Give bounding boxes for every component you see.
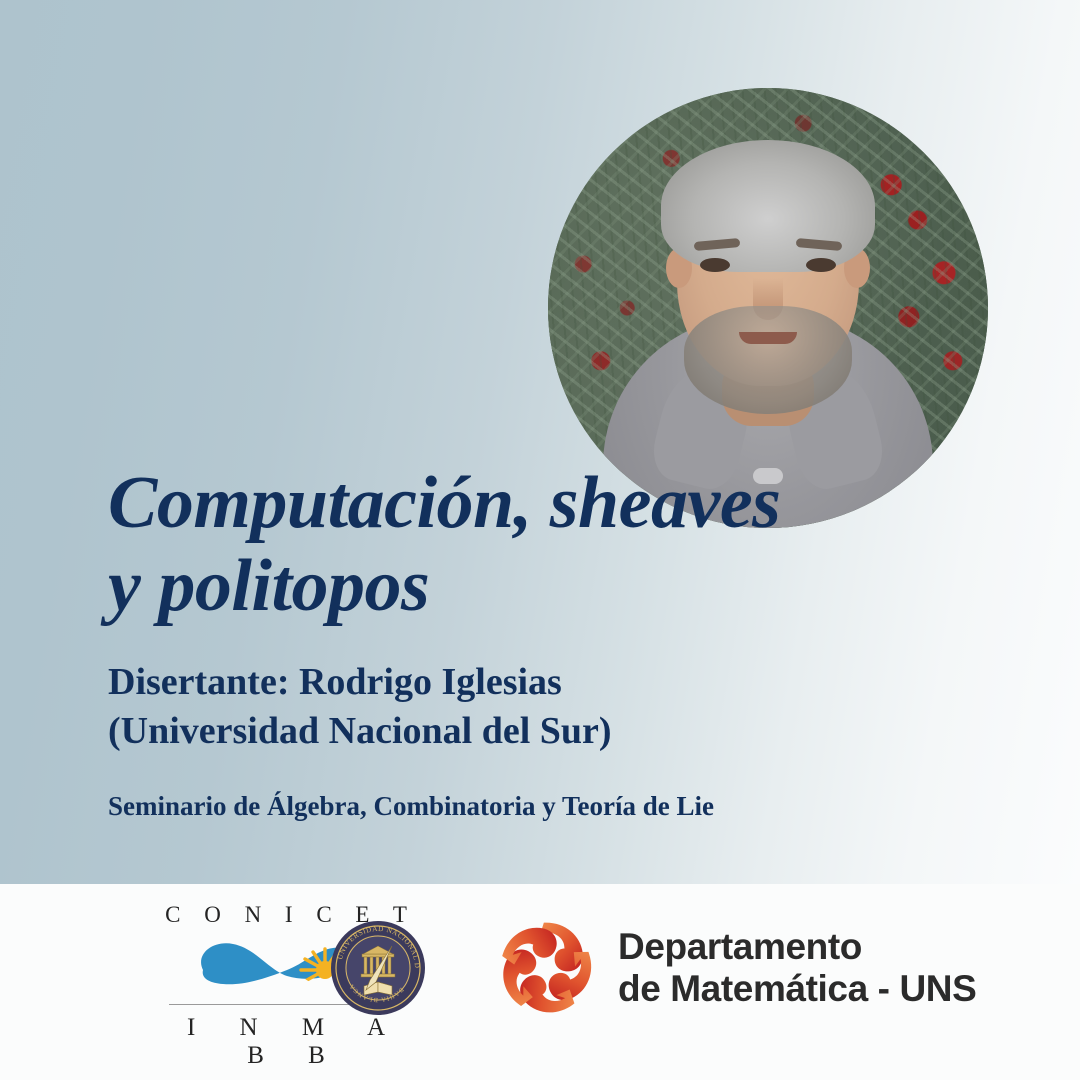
portrait-eye-right	[806, 258, 836, 272]
speaker-info: Disertante: Rodrigo Iglesias(Universidad…	[108, 658, 868, 755]
portrait-mouth	[739, 332, 797, 344]
talk-title-line-1: Computación, sheaves	[108, 462, 780, 544]
departamento-line-2: de Matemática - UNS	[618, 968, 976, 1010]
departamento-matematica-logo: Departamento de Matemática - UNS	[492, 914, 976, 1022]
speaker-name-line: Disertante: Rodrigo Iglesias	[108, 661, 562, 703]
uns-seal-icon: UNIVERSIDAD NACIONAL DEL SUR BAHIA BLANC…	[330, 920, 426, 1016]
departamento-line-1: Departamento	[618, 926, 976, 968]
departamento-pinwheel-icon	[492, 914, 600, 1022]
inmabb-wordmark: I N M A B B	[148, 1014, 424, 1070]
portrait-hair	[661, 140, 875, 272]
portrait-beard	[684, 306, 852, 414]
seminar-poster: Computación, sheavesy politopos Disertan…	[0, 0, 1080, 1080]
portrait-eye-left	[700, 258, 730, 272]
footer-logo-row: C O N I C E T	[0, 884, 1080, 1080]
talk-title: Computación, sheavesy politopos	[108, 462, 888, 628]
seminar-name: Seminario de Álgebra, Combinatoria y Teo…	[108, 789, 968, 824]
speaker-affiliation-line: (Universidad Nacional del Sur)	[108, 710, 612, 752]
departamento-text: Departamento de Matemática - UNS	[618, 926, 976, 1010]
talk-title-line-2: y politopos	[108, 545, 429, 627]
